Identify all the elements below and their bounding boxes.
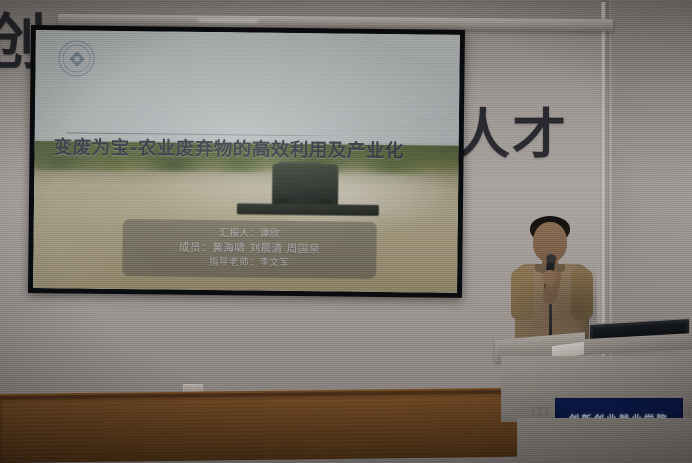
presentation-photo-scene: 创 人才: [0, 0, 692, 463]
slide-credits-block: 汇报人：谭欣 成员：黄海啸 刘晨清 周国泉 指导老师：李文军: [122, 219, 377, 279]
slide-title: 变废为宝-农业废弃物的高效利用及产业化: [54, 137, 449, 163]
advisor-line: 指导老师：李文军: [126, 255, 372, 271]
emblem-diamond: [69, 51, 85, 67]
slide: 变废为宝-农业废弃物的高效利用及产业化 汇报人：谭欣 成员：黄海啸 刘晨清 周国…: [33, 30, 460, 293]
presenter-hand: [543, 270, 556, 285]
lectern: 创新创业就业学院: [497, 320, 692, 463]
lectern-front-panel: 创新创业就业学院: [501, 356, 692, 422]
lectern-base: [517, 418, 692, 463]
projection-screen-frame: 变废为宝-农业废弃物的高效利用及产业化 汇报人：谭欣 成员：黄海啸 刘晨清 周国…: [28, 25, 465, 298]
presenter-sleeve-right: [571, 268, 593, 320]
wall-character-right: 人才: [456, 105, 568, 165]
projection-screen-surface: 变废为宝-农业废弃物的高效利用及产业化 汇报人：谭欣 成员：黄海啸 刘晨清 周国…: [33, 30, 460, 293]
harvester-header: [237, 203, 380, 216]
presenter-sleeve-left: [511, 268, 533, 320]
housing-highlight: [198, 18, 258, 23]
